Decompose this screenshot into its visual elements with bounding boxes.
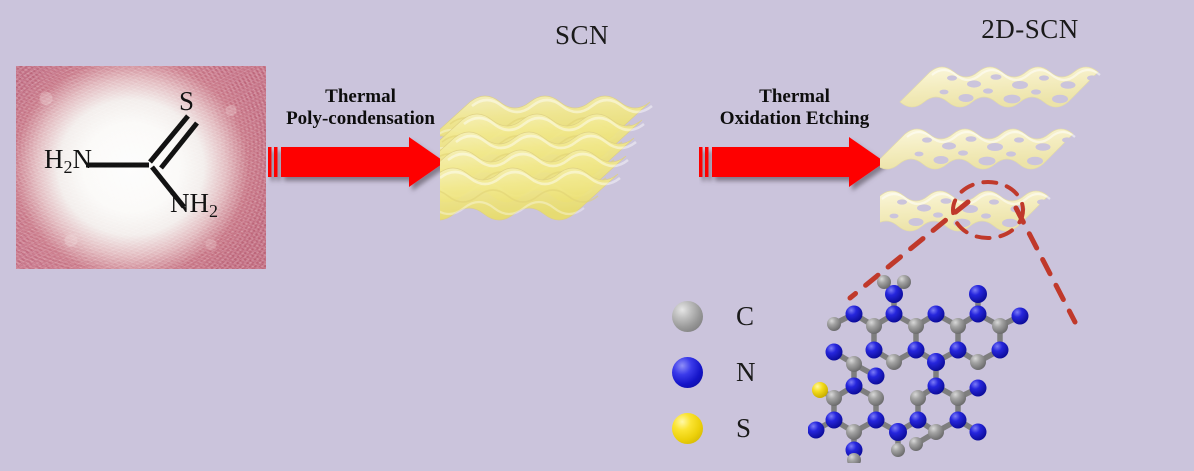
arrow-label-2-line1: Thermal (697, 86, 892, 108)
label-amine-left: H2N (44, 144, 92, 178)
arrow-label-2: Thermal Oxidation Etching (697, 86, 892, 130)
legend-label-sulfur: S (736, 413, 751, 444)
sulfur-atom (812, 382, 828, 398)
arrow-label-1-line2: Poly-condensation (268, 108, 453, 130)
legend-label-carbon: C (736, 301, 754, 332)
thiourea-powder-photo: H2N S NH2 (16, 66, 266, 269)
arrow-thermal-poly-condensation: Thermal Poly-condensation (268, 86, 453, 196)
legend-item-carbon: C (672, 288, 782, 344)
nitrogen-atoms (808, 285, 1029, 459)
stage-title-scn: SCN (497, 20, 667, 51)
element-legend: C N S (672, 288, 782, 456)
bond-c-s-outer (161, 123, 197, 168)
carbon-sphere-icon (672, 301, 703, 332)
legend-label-nitrogen: N (736, 357, 756, 388)
synthesis-schematic-figure: SCN 2D-SCN H2N S NH2 Thermal Poly-conden… (0, 0, 1194, 471)
legend-item-nitrogen: N (672, 344, 782, 400)
legend-item-sulfur: S (672, 400, 782, 456)
arrow-label-1-line1: Thermal (268, 86, 453, 108)
stage-title-2d-scn: 2D-SCN (930, 14, 1130, 45)
bond-c-s-inner (150, 116, 188, 162)
bulk-scn-layer-stack (440, 86, 680, 251)
arrow-label-2-line2: Oxidation Etching (697, 108, 892, 130)
atomic-structure-model (808, 268, 1048, 463)
nitrogen-sphere-icon (672, 357, 703, 388)
arrow-shape-1 (268, 136, 453, 196)
sulfur-sphere-icon (672, 413, 703, 444)
arrow-label-1: Thermal Poly-condensation (268, 86, 453, 130)
label-sulfur: S (179, 86, 194, 117)
label-amine-right: NH2 (170, 188, 218, 222)
